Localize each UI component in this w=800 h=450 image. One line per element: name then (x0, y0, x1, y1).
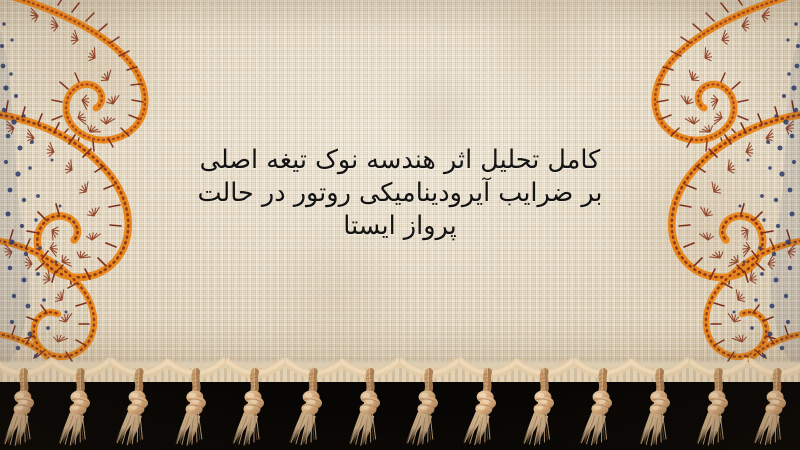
tassel (283, 357, 343, 450)
tassel (109, 357, 169, 450)
tassel (747, 357, 800, 450)
tassel (341, 357, 401, 450)
tassel (226, 358, 284, 450)
knotted-tassel-fringe (0, 358, 800, 450)
tassel (515, 358, 574, 450)
cloth-top-shadow (0, 0, 800, 34)
page-title: کامل تحلیل اثر هندسه نوک تیغه اصلی بر ضر… (150, 144, 650, 243)
tassel (457, 357, 518, 450)
tassel (573, 358, 632, 450)
title-line-3: پرواز ایستا (150, 210, 650, 243)
tassel (400, 358, 459, 450)
title-slide: کامل تحلیل اثر هندسه نوک تیغه اصلی بر ضر… (0, 0, 800, 450)
tassel (52, 358, 111, 450)
tassel (631, 357, 692, 450)
title-line-2: بر ضرایب آیرودینامیکی روتور در حالت (150, 177, 650, 210)
tassel (167, 357, 227, 450)
tassel (0, 357, 55, 450)
tassel (690, 358, 749, 450)
title-line-1: کامل تحلیل اثر هندسه نوک تیغه اصلی (150, 144, 650, 177)
